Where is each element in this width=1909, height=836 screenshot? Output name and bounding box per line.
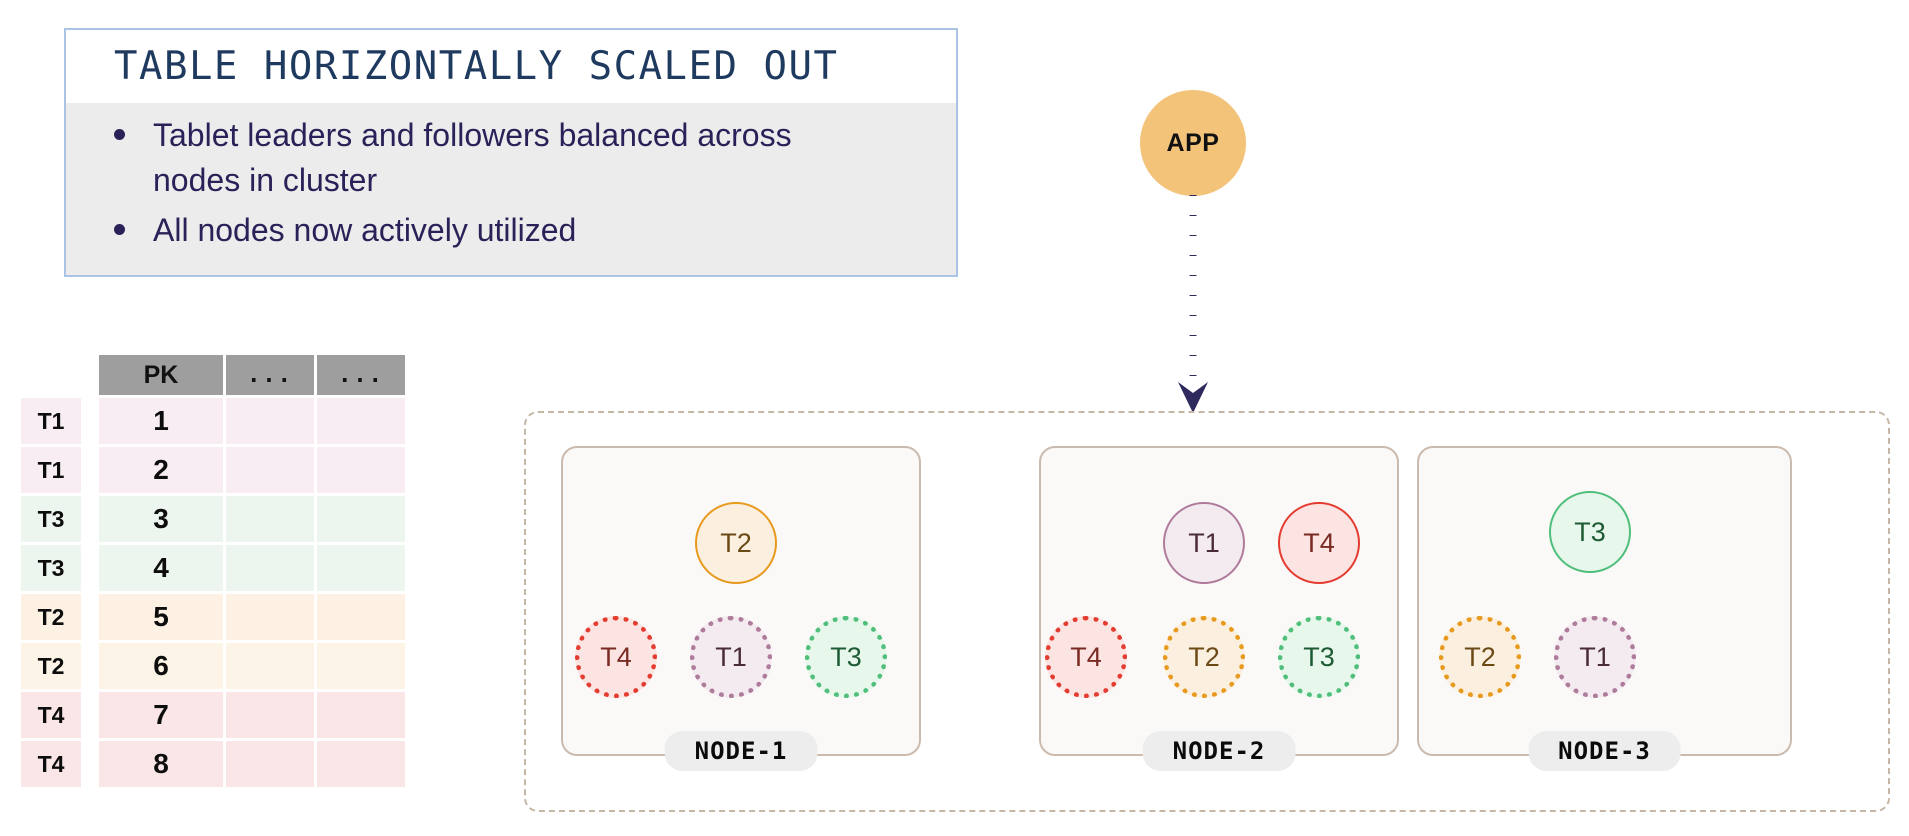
row-tablet-label: T1 xyxy=(21,398,81,444)
table-row: T4 8 xyxy=(21,741,405,787)
node-label-2: NODE-2 xyxy=(1143,731,1296,771)
tablet-leader-node2-1[interactable]: T1 xyxy=(1163,502,1245,584)
callout-title: TABLE HORIZONTALLY SCALED OUT xyxy=(66,30,956,103)
cell-pk: 1 xyxy=(99,398,223,444)
callout-box: TABLE HORIZONTALLY SCALED OUT Tablet lea… xyxy=(64,28,958,277)
column-gap xyxy=(84,355,96,395)
cell-ellipsis-1 xyxy=(226,643,314,689)
header-corner-blank xyxy=(21,355,81,395)
tablet-label: T3 xyxy=(1303,642,1335,673)
cell-ellipsis-2 xyxy=(317,447,405,493)
column-header-ellipsis-1: ... xyxy=(226,355,314,395)
tablet-label: T2 xyxy=(1464,642,1496,673)
tablet-label: T4 xyxy=(1070,642,1102,673)
sharded-table: PK ... ... T1 1 T1 2 T3 3 T3 4 xyxy=(18,352,408,790)
tablet-leader-node2-2[interactable]: T4 xyxy=(1278,502,1360,584)
cell-pk: 8 xyxy=(99,741,223,787)
cell-ellipsis-1 xyxy=(226,692,314,738)
table-row: T4 7 xyxy=(21,692,405,738)
row-tablet-label: T2 xyxy=(21,594,81,640)
callout-body: Tablet leaders and followers balanced ac… xyxy=(66,103,956,275)
cluster-boundary: T2 T4 T1 T3 NODE-1 T1 T4 T4 T2 T3 NODE-2 xyxy=(524,411,1890,812)
tablet-follower-node2-2[interactable]: T2 xyxy=(1163,616,1245,698)
row-tablet-label: T3 xyxy=(21,545,81,591)
tablet-follower-node1-1[interactable]: T4 xyxy=(575,616,657,698)
column-gap xyxy=(84,692,96,738)
cell-ellipsis-1 xyxy=(226,398,314,444)
table-container: PK ... ... T1 1 T1 2 T3 3 T3 4 xyxy=(18,352,408,790)
callout-bullet-text: Tablet leaders and followers balanced ac… xyxy=(153,113,853,204)
cell-pk: 2 xyxy=(99,447,223,493)
tablet-label: T1 xyxy=(1188,528,1220,559)
row-tablet-label: T3 xyxy=(21,496,81,542)
tablet-follower-node3-1[interactable]: T2 xyxy=(1439,616,1521,698)
cell-ellipsis-1 xyxy=(226,545,314,591)
cell-ellipsis-2 xyxy=(317,741,405,787)
callout-bullet: Tablet leaders and followers balanced ac… xyxy=(96,113,936,204)
table-row: T1 1 xyxy=(21,398,405,444)
bullet-dot-icon xyxy=(114,224,125,235)
app-node: APP xyxy=(1140,90,1246,196)
cell-ellipsis-1 xyxy=(226,594,314,640)
tablet-label: T4 xyxy=(1303,528,1335,559)
tablet-label: T3 xyxy=(830,642,862,673)
tablet-label: T4 xyxy=(600,642,632,673)
cell-pk: 3 xyxy=(99,496,223,542)
node-label-3: NODE-3 xyxy=(1528,731,1681,771)
row-tablet-label: T1 xyxy=(21,447,81,493)
cell-pk: 7 xyxy=(99,692,223,738)
tablet-follower-node1-3[interactable]: T3 xyxy=(805,616,887,698)
tablet-label: T1 xyxy=(715,642,747,673)
cell-ellipsis-2 xyxy=(317,496,405,542)
callout-bullet: All nodes now actively utilized xyxy=(96,208,936,253)
column-gap xyxy=(84,594,96,640)
row-tablet-label: T4 xyxy=(21,692,81,738)
tablet-label: T3 xyxy=(1574,517,1606,548)
bullet-dot-icon xyxy=(114,129,125,140)
cell-ellipsis-2 xyxy=(317,545,405,591)
column-header-pk: PK xyxy=(99,355,223,395)
column-gap xyxy=(84,496,96,542)
cell-pk: 4 xyxy=(99,545,223,591)
column-gap xyxy=(84,741,96,787)
cell-ellipsis-2 xyxy=(317,594,405,640)
callout-bullet-text: All nodes now actively utilized xyxy=(153,208,576,253)
cell-pk: 6 xyxy=(99,643,223,689)
table-row: T1 2 xyxy=(21,447,405,493)
cell-ellipsis-1 xyxy=(226,741,314,787)
table-row: T3 4 xyxy=(21,545,405,591)
column-gap xyxy=(84,398,96,444)
node-card-2[interactable]: T1 T4 T4 T2 T3 NODE-2 xyxy=(1039,446,1399,756)
table-row: T2 5 xyxy=(21,594,405,640)
cell-ellipsis-2 xyxy=(317,398,405,444)
tablet-follower-node1-2[interactable]: T1 xyxy=(690,616,772,698)
column-gap xyxy=(84,643,96,689)
app-to-cluster-arrow-icon xyxy=(1155,195,1235,420)
tablet-leader-node1-1[interactable]: T2 xyxy=(695,502,777,584)
tablet-leader-node3-1[interactable]: T3 xyxy=(1549,491,1631,573)
table-row: T3 3 xyxy=(21,496,405,542)
row-tablet-label: T4 xyxy=(21,741,81,787)
cell-ellipsis-1 xyxy=(226,447,314,493)
node-card-3[interactable]: T3 T2 T1 NODE-3 xyxy=(1417,446,1792,756)
app-node-label: APP xyxy=(1167,129,1220,158)
tablet-label: T2 xyxy=(1188,642,1220,673)
cell-ellipsis-1 xyxy=(226,496,314,542)
tablet-follower-node2-3[interactable]: T3 xyxy=(1278,616,1360,698)
row-tablet-label: T2 xyxy=(21,643,81,689)
column-gap xyxy=(84,447,96,493)
cell-ellipsis-2 xyxy=(317,692,405,738)
tablet-label: T2 xyxy=(720,528,752,559)
column-header-ellipsis-2: ... xyxy=(317,355,405,395)
table-row: T2 6 xyxy=(21,643,405,689)
cell-ellipsis-2 xyxy=(317,643,405,689)
node-label-1: NODE-1 xyxy=(665,731,818,771)
table-header-row: PK ... ... xyxy=(21,355,405,395)
cell-pk: 5 xyxy=(99,594,223,640)
node-card-1[interactable]: T2 T4 T1 T3 NODE-1 xyxy=(561,446,921,756)
column-gap xyxy=(84,545,96,591)
tablet-follower-node3-2[interactable]: T1 xyxy=(1554,616,1636,698)
tablet-label: T1 xyxy=(1579,642,1611,673)
tablet-follower-node2-1[interactable]: T4 xyxy=(1045,616,1127,698)
